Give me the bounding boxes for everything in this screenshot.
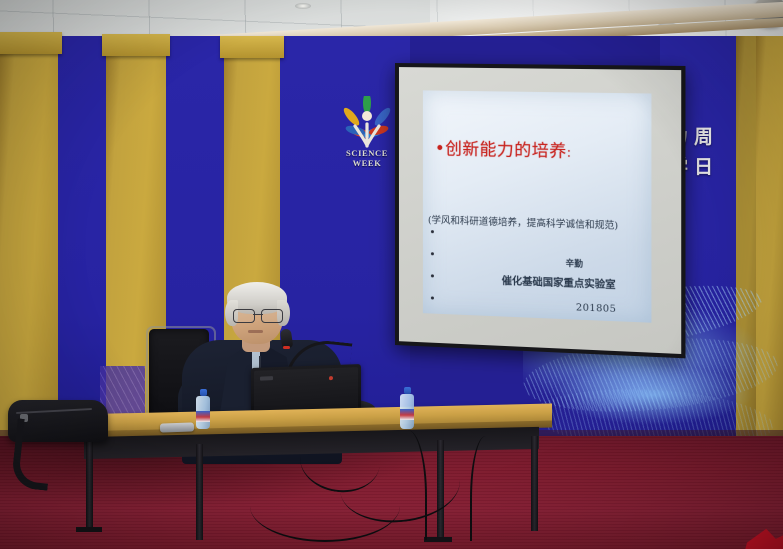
presentation-remote[interactable] (160, 422, 194, 432)
bottle-label (400, 409, 414, 420)
lens-right (261, 309, 283, 323)
slide-title-text: 创新能力的培养 (445, 139, 567, 161)
slide-bullet (431, 274, 434, 277)
lens-left (233, 309, 255, 323)
table-leg (196, 444, 203, 540)
table-leg (531, 436, 538, 531)
slide-title: •创新能力的培养: (435, 140, 572, 162)
projection-screen: •创新能力的培养: (学风和科研道德培养，提高科学诚信和规范) 辛勤 催化基础国… (395, 63, 685, 358)
slide-bullet (431, 252, 434, 255)
slide-title-colon: : (567, 145, 572, 159)
screen-surface: •创新能力的培养: (学风和科研道德培养，提高科学诚信和规范) 辛勤 催化基础国… (423, 90, 652, 322)
lecture-hall-photo: SCIENCE WEEK 力周 学日 •创新能力的培养: (学风和科研道德培养，… (0, 0, 783, 549)
mouth (248, 330, 263, 333)
table-foot (424, 537, 452, 542)
pilaster-capital (0, 32, 62, 54)
slide-bullet (431, 230, 434, 233)
logo-caption: SCIENCE WEEK (331, 148, 403, 168)
slide-bullet-list (431, 230, 434, 323)
presentation-slide: •创新能力的培养: (学风和科研道德培养，提高科学诚信和规范) 辛勤 催化基础国… (423, 90, 652, 322)
table-foot (76, 527, 102, 532)
pilaster-capital (102, 34, 170, 56)
bottle-label (196, 411, 210, 422)
starburst-icon (337, 96, 397, 148)
water-bottle[interactable] (400, 387, 414, 429)
laptop-logo-icon (260, 376, 273, 380)
bottle-cap (404, 387, 411, 394)
slide-author: 辛勤 (566, 257, 583, 270)
table-leg (86, 440, 93, 530)
slide-bullet (431, 296, 434, 299)
floor-cable (250, 470, 400, 542)
slide-date: 201805 (576, 302, 616, 315)
bottle-cap (200, 389, 207, 396)
microphone-led-icon (283, 346, 290, 349)
science-week-logo: SCIENCE WEEK (331, 96, 403, 170)
downlight-icon (295, 3, 311, 9)
slide-affiliation: 催化基础国家重点实验室 (502, 272, 616, 292)
water-bottle[interactable] (196, 389, 210, 429)
pilaster-capital (220, 36, 284, 58)
glasses-icon (233, 309, 283, 322)
glasses-bridge (253, 314, 263, 315)
slide-subtitle: (学风和科研道德培养，提高科学诚信和规范) (428, 215, 618, 232)
